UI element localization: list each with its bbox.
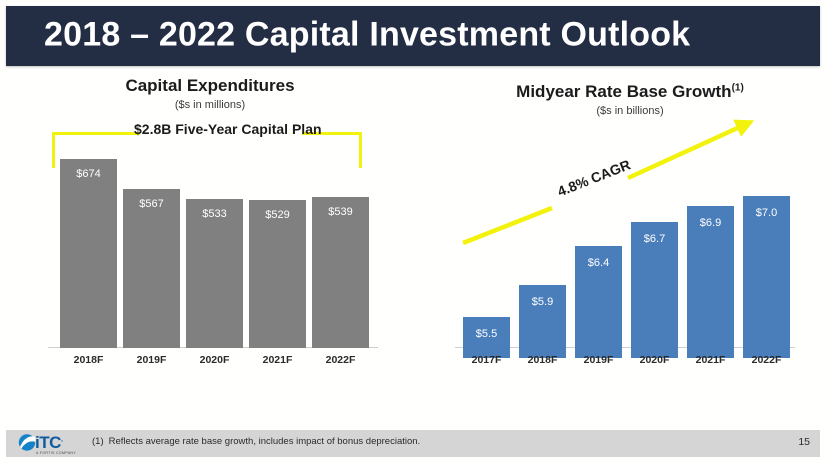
footnote-text: Reflects average rate base growth, inclu… — [109, 436, 421, 447]
bar-2021f: $529 — [249, 200, 306, 348]
itc-logo-dot: . — [61, 434, 63, 443]
tick-2018f: 2018F — [60, 354, 117, 366]
footnote-marker: (1) — [92, 436, 104, 447]
page-title: 2018 – 2022 Capital Investment Outlook — [44, 16, 690, 55]
rate-base-growth-panel: Midyear Rate Base Growth(1) ($s in billi… — [455, 82, 805, 122]
bar-label-2021f: $529 — [249, 209, 306, 221]
itc-swoosh-icon — [18, 434, 36, 451]
bar-label-2020f: $6.7 — [631, 233, 678, 245]
itc-logo-tagline: A FORTIS COMPANY — [36, 451, 76, 455]
capital-expenditures-subtitle: ($s in millions) — [30, 99, 390, 111]
itc-logo-text: iTC. — [35, 433, 63, 453]
bar-label-2018f: $674 — [60, 168, 117, 180]
bar-label-2022f: $539 — [312, 206, 369, 218]
bar-label-2021f: $6.9 — [687, 217, 734, 229]
tick-2021f: 2021F — [249, 354, 306, 366]
bar-label-2018f: $5.9 — [519, 296, 566, 308]
itc-logo-wordmark: iTC — [35, 433, 61, 452]
capital-expenditures-panel: Capital Expenditures ($s in millions) — [30, 76, 390, 116]
bar-2020f: $533 — [186, 199, 243, 348]
bar-2022f: $7.0 — [743, 196, 790, 358]
bar-label-2022f: $7.0 — [743, 207, 790, 219]
rate-base-growth-plot: $5.5 $5.9 $6.4 $6.7 $6.9 $7.0 2017F 2018… — [455, 168, 795, 358]
page-number: 15 — [798, 436, 810, 448]
capital-expenditures-plot: $674 $567 $533 $529 $539 2018F 2019F 202… — [48, 158, 378, 348]
title-banner: 2018 – 2022 Capital Investment Outlook — [6, 6, 820, 66]
bar-label-2020f: $533 — [186, 208, 243, 220]
rate-base-growth-title: Midyear Rate Base Growth(1) — [455, 82, 805, 102]
tick-2021f: 2021F — [687, 354, 734, 366]
tick-2022f: 2022F — [312, 354, 369, 366]
itc-logo: iTC. A FORTIS COMPANY — [18, 430, 84, 457]
bar-label-2017f: $5.5 — [463, 328, 510, 340]
bar-2018f: $5.9 — [519, 285, 566, 358]
tick-2020f: 2020F — [186, 354, 243, 366]
rate-base-growth-title-text: Midyear Rate Base Growth — [516, 82, 731, 101]
rate-base-growth-subtitle: ($s in billions) — [455, 105, 805, 117]
bar-label-2019f: $567 — [123, 198, 180, 210]
tick-2020f: 2020F — [631, 354, 678, 366]
bar-2020f: $6.7 — [631, 222, 678, 358]
bar-label-2019f: $6.4 — [575, 257, 622, 269]
rate-base-growth-title-superscript: (1) — [732, 82, 744, 93]
bar-2022f: $539 — [312, 197, 369, 348]
tick-2022f: 2022F — [743, 354, 790, 366]
five-year-plan-label: $2.8B Five-Year Capital Plan — [134, 121, 306, 137]
capital-expenditures-title: Capital Expenditures — [30, 76, 390, 96]
bar-2019f: $567 — [123, 189, 180, 348]
bar-2021f: $6.9 — [687, 206, 734, 358]
tick-2019f: 2019F — [575, 354, 622, 366]
tick-2017f: 2017F — [463, 354, 510, 366]
bar-2018f: $674 — [60, 159, 117, 348]
bar-2019f: $6.4 — [575, 246, 622, 358]
slide-canvas: 2018 – 2022 Capital Investment Outlook C… — [0, 0, 830, 467]
bar-2017f: $5.5 — [463, 317, 510, 358]
footnote: (1)Reflects average rate base growth, in… — [92, 436, 420, 447]
tick-2019f: 2019F — [123, 354, 180, 366]
tick-2018f: 2018F — [519, 354, 566, 366]
